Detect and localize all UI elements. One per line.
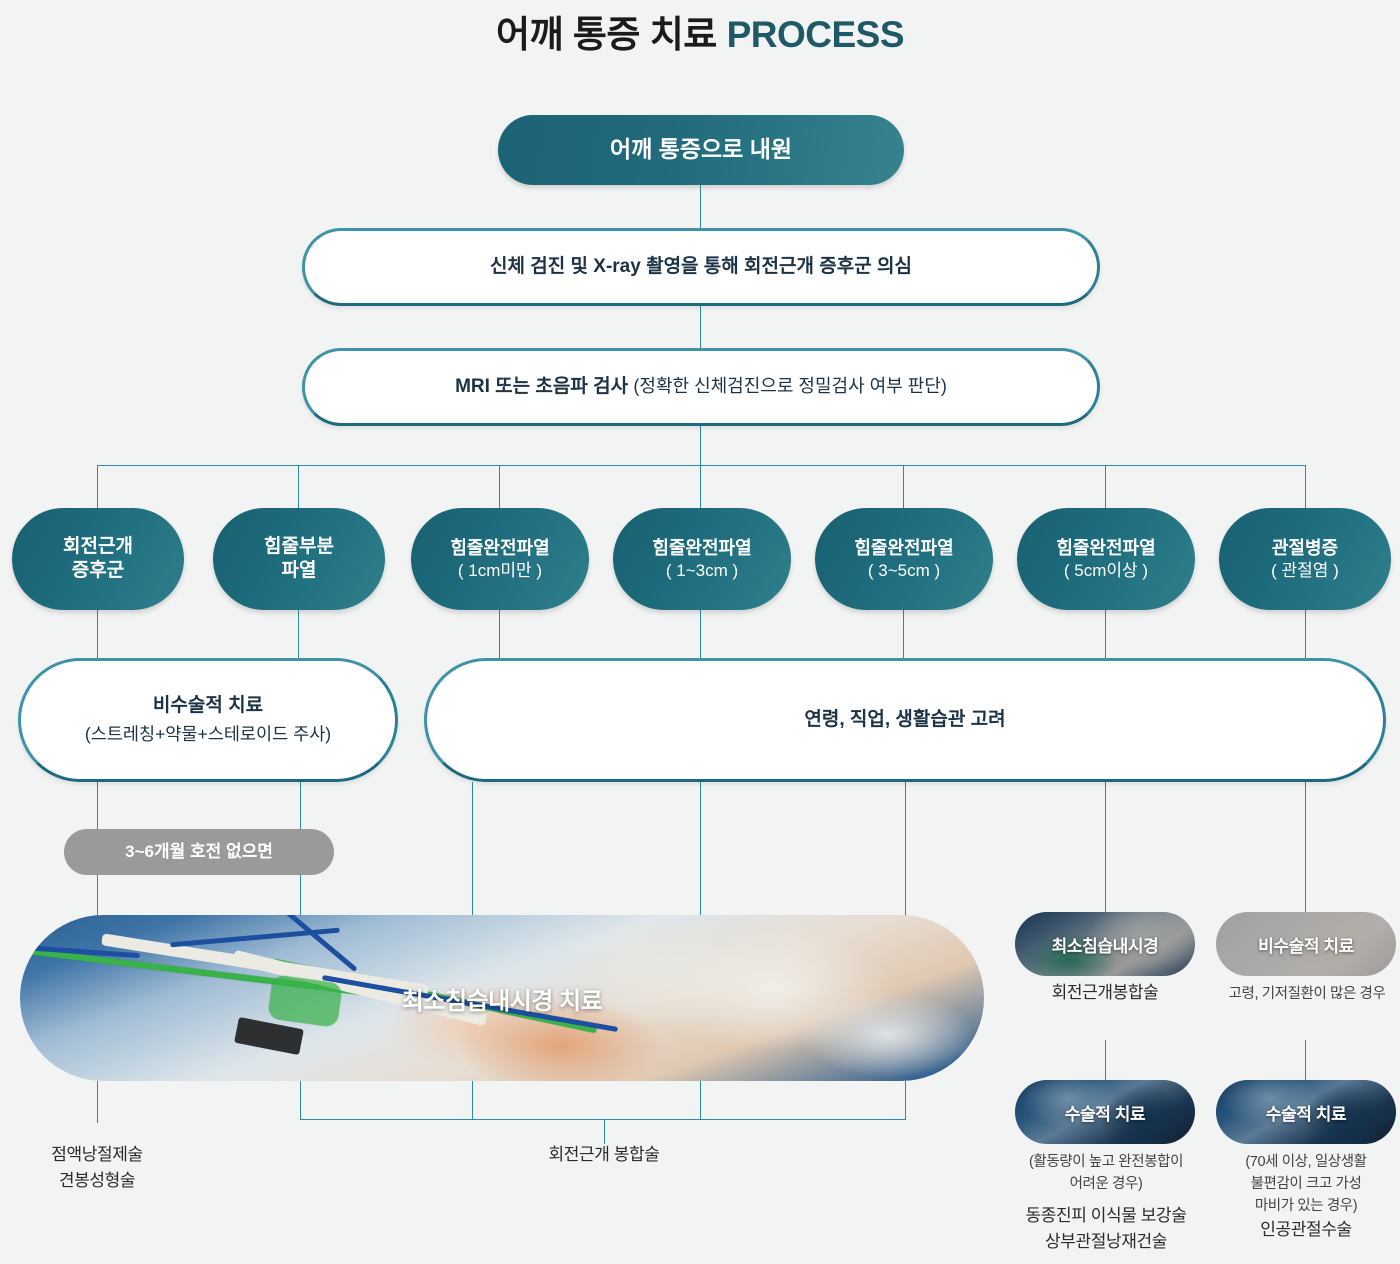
node-entry-label: 어깨 통증으로 내원 xyxy=(610,135,792,164)
connector-imaging-down xyxy=(700,425,701,466)
connector-merge-to-caption xyxy=(604,1119,605,1144)
outcome-caption-2: 회전근개 봉합술 xyxy=(514,1142,694,1168)
node-entry[interactable]: 어깨 통증으로 내원 xyxy=(498,115,904,185)
node-diagnosis-2[interactable]: 힘줄부분 파열 xyxy=(213,508,385,610)
outcome-caption-2-line1: 회전근개 봉합술 xyxy=(514,1142,694,1168)
branch-4-procedures: 인공관절수술 xyxy=(1218,1217,1394,1243)
connector-diagnosis-bus xyxy=(97,465,1305,466)
branch-4-condition-line2: 불편감이 크고 가성 xyxy=(1218,1174,1394,1196)
node-imaging[interactable]: MRI 또는 초음파 검사 (정확한 신체검진으로 정밀검사 여부 판단) xyxy=(302,348,1100,426)
connector-consider-down-5 xyxy=(1305,782,1306,912)
connector-dx2-down xyxy=(298,610,299,660)
node-diagnosis-3-line2: ( 1cm미만 ) xyxy=(458,560,542,582)
branch-1-caption-line1: 회전근개봉합술 xyxy=(1020,980,1190,1006)
branch-4-condition-line3: 마비가 있는 경우) xyxy=(1218,1196,1394,1218)
node-diagnosis-7-line1: 관절병증 xyxy=(1272,537,1338,560)
branch-4-procedure-1: 인공관절수술 xyxy=(1218,1217,1394,1243)
branch-3-procedure-1: 동종진피 이식물 보강술 xyxy=(1000,1203,1212,1229)
branch-3-condition-line1: (활동량이 높고 완전봉합이 xyxy=(1008,1152,1204,1174)
connector-exam-to-imaging xyxy=(700,305,701,349)
connector-banner-out-c xyxy=(700,1081,701,1119)
connector-consider-down-1 xyxy=(472,782,473,916)
page-title-en: PROCESS xyxy=(727,14,904,55)
connector-banner-out-b xyxy=(472,1081,473,1119)
outcome-caption-1: 점액낭절제술 견봉성형술 xyxy=(7,1142,187,1195)
connector-consider-down-2 xyxy=(700,782,701,916)
outcome-caption-1-line1: 점액낭절제술 xyxy=(7,1142,187,1168)
node-arthroscopy-banner[interactable]: 최소침습내시경 치료 xyxy=(20,915,984,1081)
node-imaging-label: MRI 또는 초음파 검사 (정확한 신체검진으로 정밀검사 여부 판단) xyxy=(455,375,947,399)
outcome-caption-1-line2: 견봉성형술 xyxy=(7,1168,187,1194)
connector-outcome-merge-bus xyxy=(300,1119,906,1120)
node-branch-4-label: 수술적 치료 xyxy=(1266,1100,1347,1125)
connector-bus-to-dx-4 xyxy=(700,465,701,510)
node-branch-2-pill[interactable]: 비수술적 치료 xyxy=(1216,912,1396,976)
node-diagnosis-5[interactable]: 힘줄완전파열 ( 3~5cm ) xyxy=(815,508,993,610)
node-diagnosis-4[interactable]: 힘줄완전파열 ( 1~3cm ) xyxy=(613,508,791,610)
connector-dx1-down xyxy=(97,610,98,660)
connector-dx3-down xyxy=(499,610,500,660)
node-nonsurgical-line2: (스트레칭+약물+스테로이드 주사) xyxy=(85,723,331,745)
connector-dx7-down xyxy=(1305,610,1306,660)
connector-note-to-banner-left xyxy=(97,874,98,919)
node-diagnosis-6-line1: 힘줄완전파열 xyxy=(1056,537,1155,560)
connector-dx6-down xyxy=(1105,610,1106,660)
connector-banner-out-d xyxy=(905,1081,906,1119)
connector-consider-down-4 xyxy=(1105,782,1106,912)
node-diagnosis-5-line2: ( 3~5cm ) xyxy=(868,560,940,582)
page-title: 어깨 통증 치료 PROCESS xyxy=(0,4,1400,58)
node-diagnosis-7-line2: ( 관절염 ) xyxy=(1271,560,1339,582)
connector-entry-to-exam xyxy=(700,185,701,228)
connector-bus-to-dx-6 xyxy=(1105,465,1106,510)
node-diagnosis-4-line1: 힘줄완전파열 xyxy=(652,537,751,560)
node-diagnosis-4-line2: ( 1~3cm ) xyxy=(666,560,738,582)
node-no-improvement-note-label: 3~6개월 호전 없으면 xyxy=(125,841,273,863)
node-consider-factors-label: 연령, 직업, 생활습관 고려 xyxy=(804,708,1005,732)
connector-dx5-down xyxy=(903,610,904,660)
node-branch-1-label: 최소침습내시경 xyxy=(1052,932,1159,957)
connector-nonsurgical-to-note xyxy=(97,782,98,832)
connector-bus-to-dx-1 xyxy=(97,465,98,510)
node-diagnosis-7[interactable]: 관절병증 ( 관절염 ) xyxy=(1219,508,1391,610)
node-imaging-label-bold: MRI 또는 초음파 검사 xyxy=(455,376,633,397)
connector-branch3-mid xyxy=(1105,1040,1106,1080)
node-diagnosis-1[interactable]: 회전근개 증후군 xyxy=(12,508,184,610)
node-branch-1-pill[interactable]: 최소침습내시경 xyxy=(1015,912,1195,976)
node-diagnosis-2-line2: 파열 xyxy=(282,559,317,583)
node-diagnosis-5-line1: 힘줄완전파열 xyxy=(854,537,953,560)
node-consider-factors[interactable]: 연령, 직업, 생활습관 고려 xyxy=(424,658,1386,782)
connector-consider-down-3 xyxy=(905,782,906,916)
node-physical-exam-label: 신체 검진 및 X-ray 촬영을 통해 회전근개 증후군 의심 xyxy=(490,255,912,279)
node-branch-3-label: 수술적 치료 xyxy=(1065,1100,1146,1125)
flowchart-canvas: 어깨 통증 치료 PROCESS 어깨 통증으로 내원 신체 검진 및 X-ra… xyxy=(0,0,1400,1264)
branch-4-condition-line1: (70세 이상, 일상생활 xyxy=(1218,1152,1394,1174)
node-diagnosis-2-line1: 힘줄부분 xyxy=(264,535,334,559)
connector-bus-to-dx-7 xyxy=(1305,465,1306,510)
node-imaging-label-note: (정확한 신체검진으로 정밀검사 여부 판단) xyxy=(633,376,947,396)
connector-bus-to-dx-2 xyxy=(298,465,299,510)
connector-bus-to-dx-3 xyxy=(499,465,500,510)
node-diagnosis-1-line2: 증후군 xyxy=(72,559,124,583)
connector-note-to-banner-right xyxy=(300,874,301,919)
node-arthroscopy-banner-caption: 최소침습내시경 치료 xyxy=(402,981,602,1016)
branch-2-caption-line1: 고령, 기저질환이 많은 경우 xyxy=(1212,984,1400,1006)
branch-4-condition: (70세 이상, 일상생활 불편감이 크고 가성 마비가 있는 경우) xyxy=(1218,1152,1394,1217)
node-physical-exam[interactable]: 신체 검진 및 X-ray 촬영을 통해 회전근개 증후군 의심 xyxy=(302,228,1100,306)
node-diagnosis-1-line1: 회전근개 xyxy=(63,535,133,559)
node-branch-4-pill[interactable]: 수술적 치료 xyxy=(1216,1080,1396,1144)
branch-3-procedures: 동종진피 이식물 보강술 상부관절낭재건술 xyxy=(1000,1203,1212,1256)
node-diagnosis-6[interactable]: 힘줄완전파열 ( 5cm이상 ) xyxy=(1017,508,1195,610)
branch-3-condition-line2: 어려운 경우) xyxy=(1008,1174,1204,1196)
branch-1-caption: 회전근개봉합술 xyxy=(1020,980,1190,1006)
node-diagnosis-3[interactable]: 힘줄완전파열 ( 1cm미만 ) xyxy=(411,508,589,610)
node-diagnosis-3-line1: 힘줄완전파열 xyxy=(450,537,549,560)
node-diagnosis-6-line2: ( 5cm이상 ) xyxy=(1064,560,1148,582)
branch-3-condition: (활동량이 높고 완전봉합이 어려운 경우) xyxy=(1008,1152,1204,1196)
connector-dx4-down xyxy=(700,610,701,660)
branch-2-caption: 고령, 기저질환이 많은 경우 xyxy=(1212,984,1400,1006)
page-title-ko: 어깨 통증 치료 xyxy=(496,14,727,55)
node-no-improvement-note: 3~6개월 호전 없으면 xyxy=(64,829,334,875)
branch-3-procedure-2: 상부관절낭재건술 xyxy=(1000,1229,1212,1255)
connector-banner-out-a xyxy=(300,1081,301,1119)
connector-bus-to-dx-5 xyxy=(903,465,904,510)
connector-nonsurgical-right-down xyxy=(300,782,301,832)
node-nonsurgical-line1: 비수술적 치료 xyxy=(153,694,263,718)
node-branch-2-label: 비수술적 치료 xyxy=(1258,932,1354,957)
node-branch-3-pill[interactable]: 수술적 치료 xyxy=(1015,1080,1195,1144)
connector-branch4-mid xyxy=(1305,1040,1306,1080)
connector-banner-out-left xyxy=(97,1081,98,1123)
node-nonsurgical-treatment[interactable]: 비수술적 치료 (스트레칭+약물+스테로이드 주사) xyxy=(18,658,398,782)
